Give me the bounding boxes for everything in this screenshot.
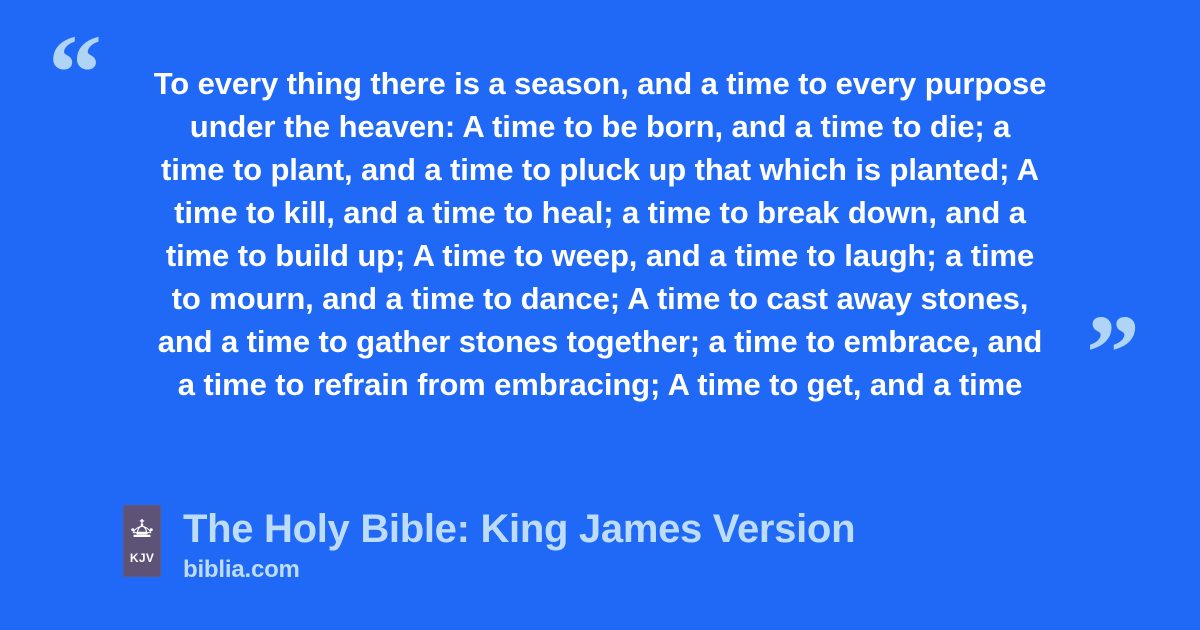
brand-title: The Holy Bible: King James Version xyxy=(183,505,855,553)
branding-footer: KJV The Holy Bible: King James Version b… xyxy=(123,505,855,585)
crown-icon xyxy=(129,519,155,539)
quote-close-icon: ” xyxy=(1086,300,1138,408)
quote-open-icon: “ xyxy=(48,20,100,128)
quote-text: To every thing there is a season, and a … xyxy=(112,62,1088,406)
brand-text-group: The Holy Bible: King James Version bibli… xyxy=(183,505,855,585)
logo-abbreviation: KJV xyxy=(123,551,161,565)
quote-area: “ To every thing there is a season, and … xyxy=(0,0,1200,450)
brand-url[interactable]: biblia.com xyxy=(183,555,855,585)
kjv-book-logo: KJV xyxy=(123,505,161,577)
quote-card: “ To every thing there is a season, and … xyxy=(0,0,1200,630)
